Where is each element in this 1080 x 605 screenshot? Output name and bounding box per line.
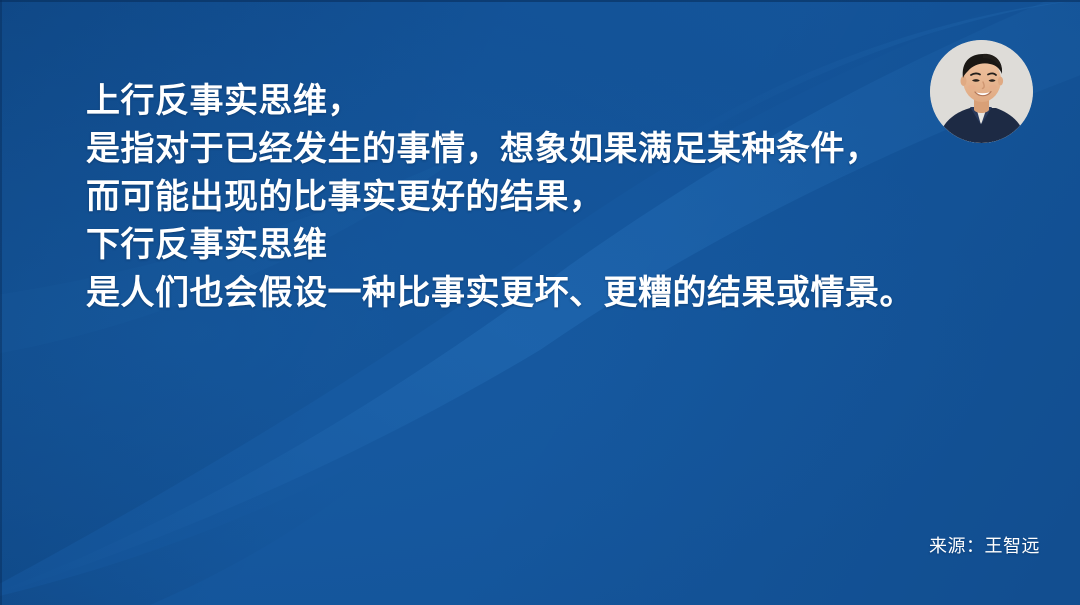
avatar-portrait-icon: [930, 40, 1033, 143]
body-text-block: 上行反事实思维， 是指对于已经发生的事情，想象如果满足某种条件， 而可能出现的比…: [86, 78, 986, 318]
body-line-4: 下行反事实思维: [86, 222, 986, 270]
body-line-2: 是指对于已经发生的事情，想象如果满足某种条件，: [86, 126, 986, 174]
body-line-5: 是人们也会假设一种比事实更坏、更糟的结果或情景。: [86, 270, 986, 318]
source-attribution: 来源：王智远: [929, 535, 1040, 557]
swoosh-lowerleft-wedge: [0, 430, 420, 605]
left-edge-line: [0, 0, 2, 605]
body-line-3: 而可能出现的比事实更好的结果，: [86, 174, 986, 222]
body-line-1: 上行反事实思维，: [86, 78, 986, 126]
slide-canvas: 上行反事实思维， 是指对于已经发生的事情，想象如果满足某种条件， 而可能出现的比…: [0, 0, 1080, 605]
top-edge-line: [0, 0, 1080, 2]
avatar: [930, 40, 1033, 143]
